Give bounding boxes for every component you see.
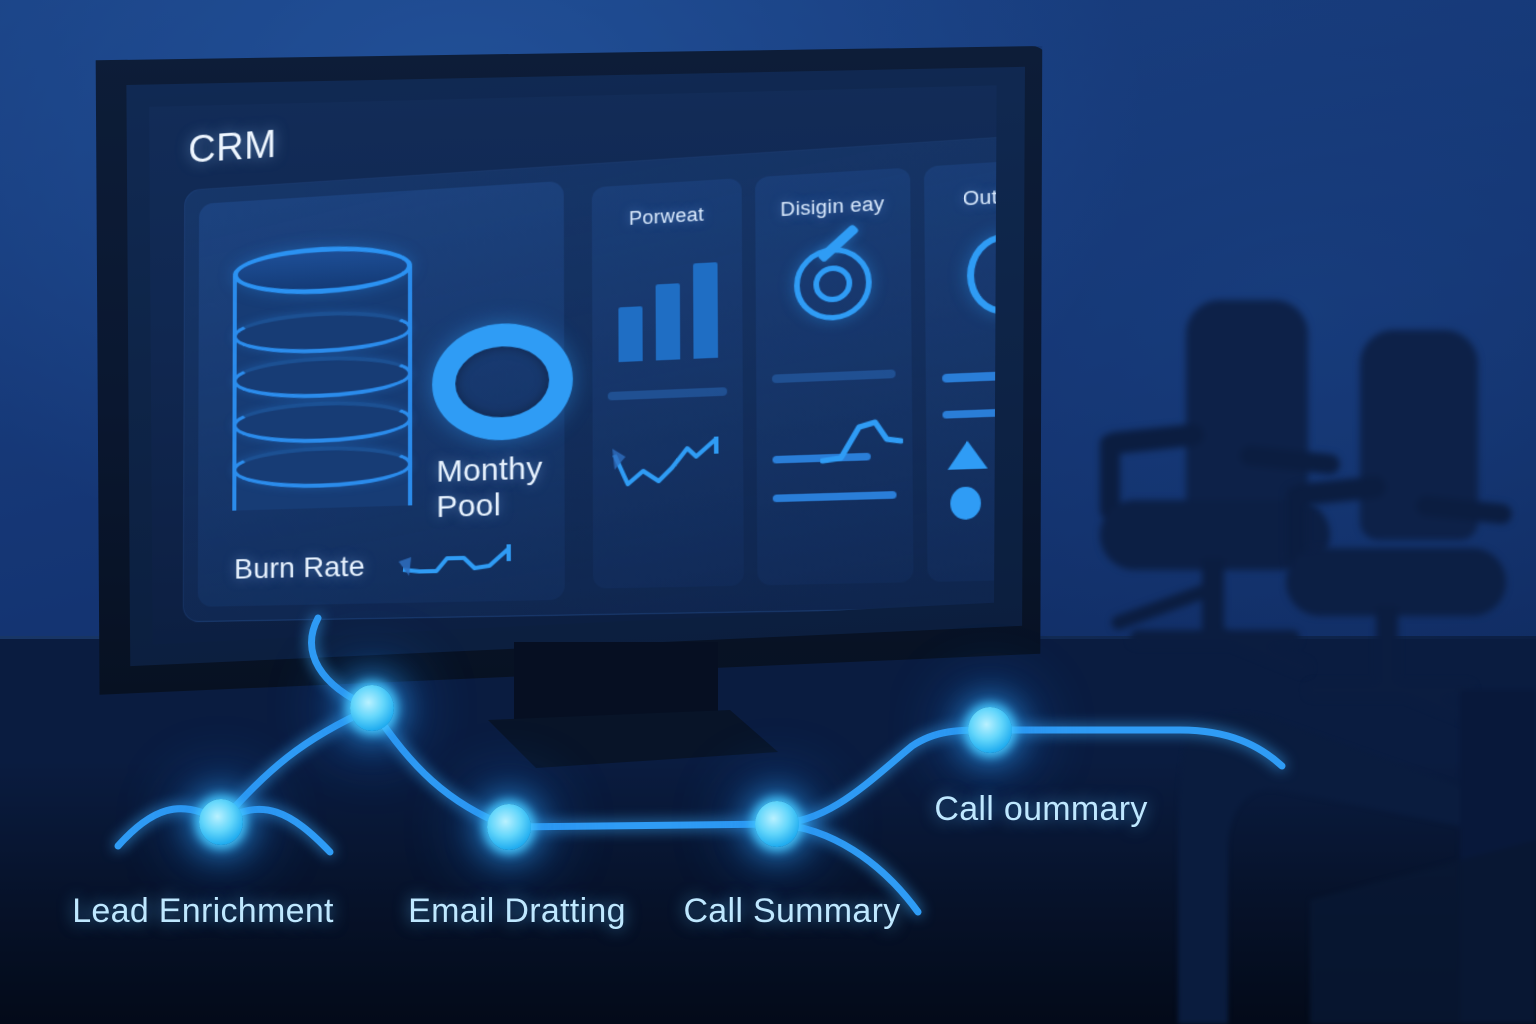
text-line	[942, 406, 1000, 418]
database-stack-icon	[232, 242, 412, 545]
triangle-icon	[947, 440, 987, 470]
flow-node-call-oummary[interactable]	[968, 707, 1012, 753]
flow-graph: Lead Enrichment Email Dratting Call Summ…	[0, 580, 1300, 1024]
card-outenus[interactable]: Outenus	[924, 157, 1000, 582]
card-disigin-eay[interactable]: Disigin eay	[755, 167, 913, 585]
flow-node-call-summary[interactable]	[755, 801, 799, 847]
card-title-porweat: Porweat	[592, 201, 742, 232]
dashboard-panel: Monthy Pool Burn Rate Porweat	[183, 135, 1000, 622]
card-monthly-pool[interactable]: Monthy Pool Burn Rate	[198, 181, 565, 607]
bar-chart-icon	[618, 262, 720, 362]
flow-label-lead-enrichment: Lead Enrichment	[72, 892, 334, 931]
page-title: CRM	[188, 123, 276, 172]
flow-label-call-oummary: Call oummary	[934, 790, 1147, 829]
flow-node-email-drafting[interactable]	[487, 804, 531, 850]
flow-node-lead-enrichment[interactable]	[199, 799, 243, 845]
divider	[772, 369, 896, 383]
card-porweat[interactable]: Porweat	[592, 178, 744, 589]
text-line	[942, 369, 1000, 383]
donut-chart-icon	[432, 320, 573, 442]
card-title-outenus: Outenus	[924, 181, 1000, 213]
sparkline-icon	[610, 434, 725, 499]
flow-label-email-drafting: Email Dratting	[408, 892, 626, 931]
circle-icon	[950, 486, 981, 520]
flow-label-call-summary: Call Summary	[683, 892, 900, 931]
office-chair-front	[1290, 330, 1536, 750]
target-arrow-icon	[794, 245, 872, 322]
card-title-disigin-eay: Disigin eay	[755, 191, 910, 223]
line-graph-icon	[820, 415, 903, 468]
divider	[608, 387, 727, 400]
flow-node-upper[interactable]	[350, 685, 394, 731]
metric-label-monthly-pool: Monthy Pool	[436, 449, 597, 524]
text-line	[773, 491, 897, 502]
scene-root: CRM Monthy Pool	[0, 0, 1536, 1024]
ring-dot-icon	[967, 231, 1000, 316]
